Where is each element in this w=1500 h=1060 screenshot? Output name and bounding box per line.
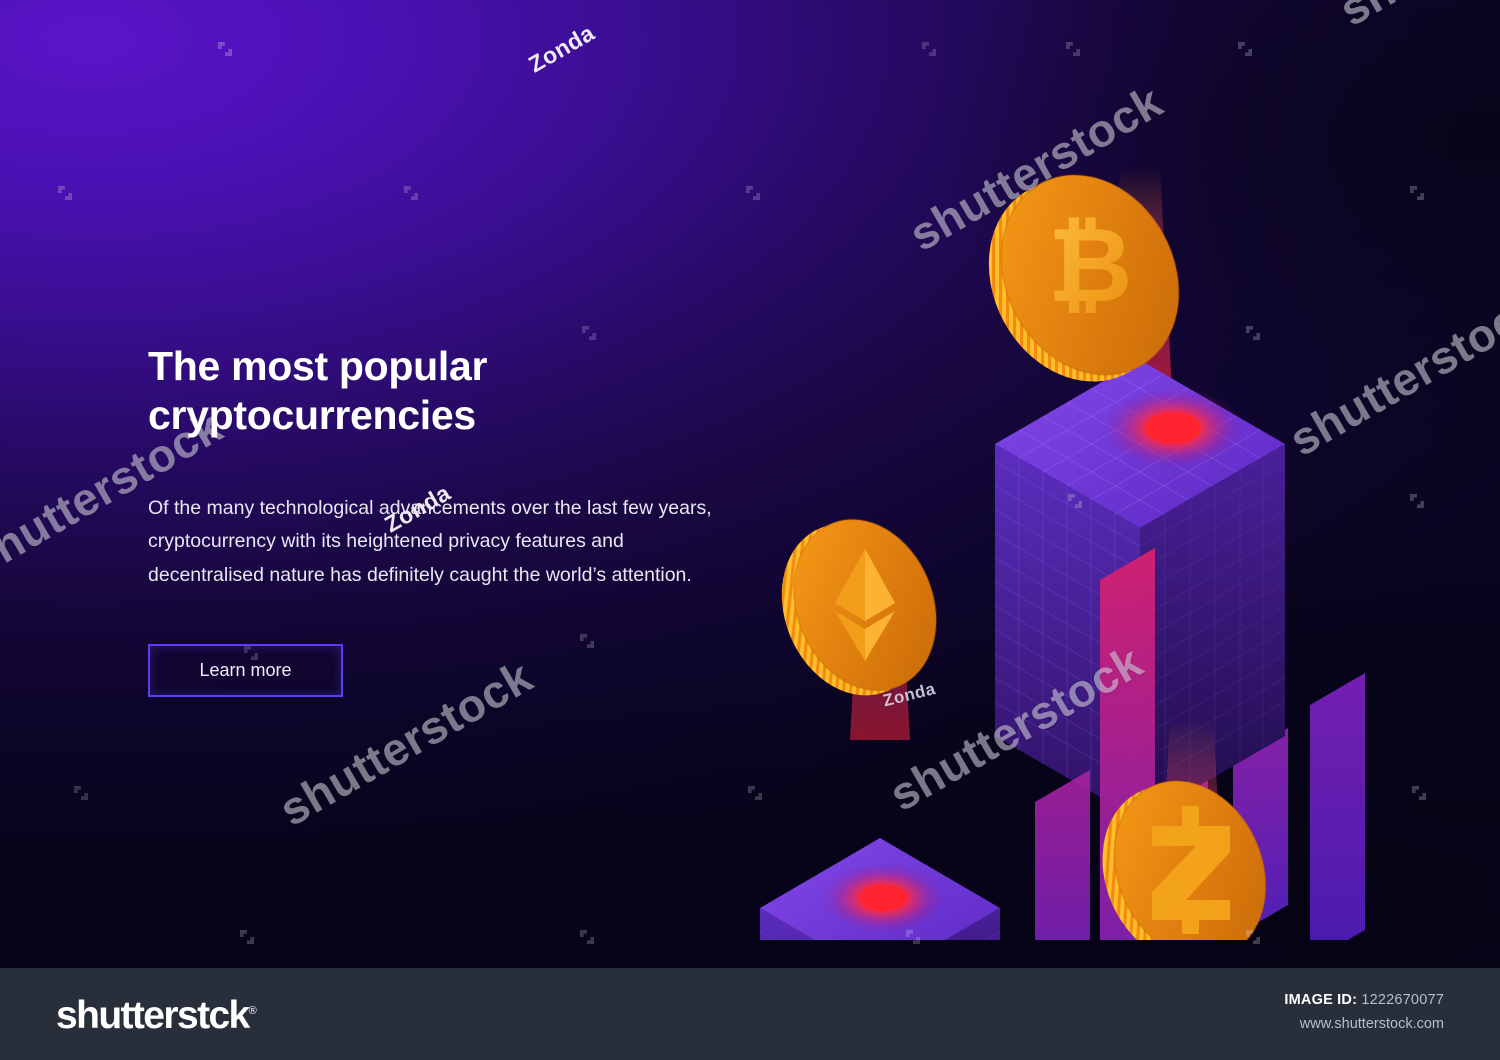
page-title: The most popular cryptocurrencies [148,342,728,440]
image-id-label: IMAGE ID: [1284,992,1357,1008]
shutterstock-logo: shutterstck® [56,994,257,1038]
hero-illustration-canvas: ₿ [0,0,1500,968]
coin-ethereum [757,498,961,717]
coin-bitcoin: ₿ [955,144,1213,413]
logo-text-tail: ck [208,994,248,1037]
image-id-row: IMAGE ID: 1222670077 [1284,992,1444,1008]
learn-more-button[interactable]: Learn more [148,644,343,697]
shutterstock-footer-bar: shutterstck® IMAGE ID: 1222670077 www.sh… [0,968,1500,1060]
screenshot-root: ₿ [0,0,1500,1060]
isometric-scene: ₿ [735,60,1475,940]
isometric-artwork: ₿ [735,60,1475,940]
footer-meta: IMAGE ID: 1222670077 www.shutterstock.co… [1284,992,1444,1032]
shutterstock-url[interactable]: www.shutterstock.com [1284,1016,1444,1032]
logo-text: shutterst [56,994,208,1037]
registered-mark: ® [249,1005,257,1017]
hero-description: Of the many technological advancements o… [148,492,723,593]
svg-text:₿: ₿ [1048,208,1133,324]
image-id-value: 1222670077 [1361,992,1444,1008]
hero-copy: The most popular cryptocurrencies Of the… [148,342,728,697]
